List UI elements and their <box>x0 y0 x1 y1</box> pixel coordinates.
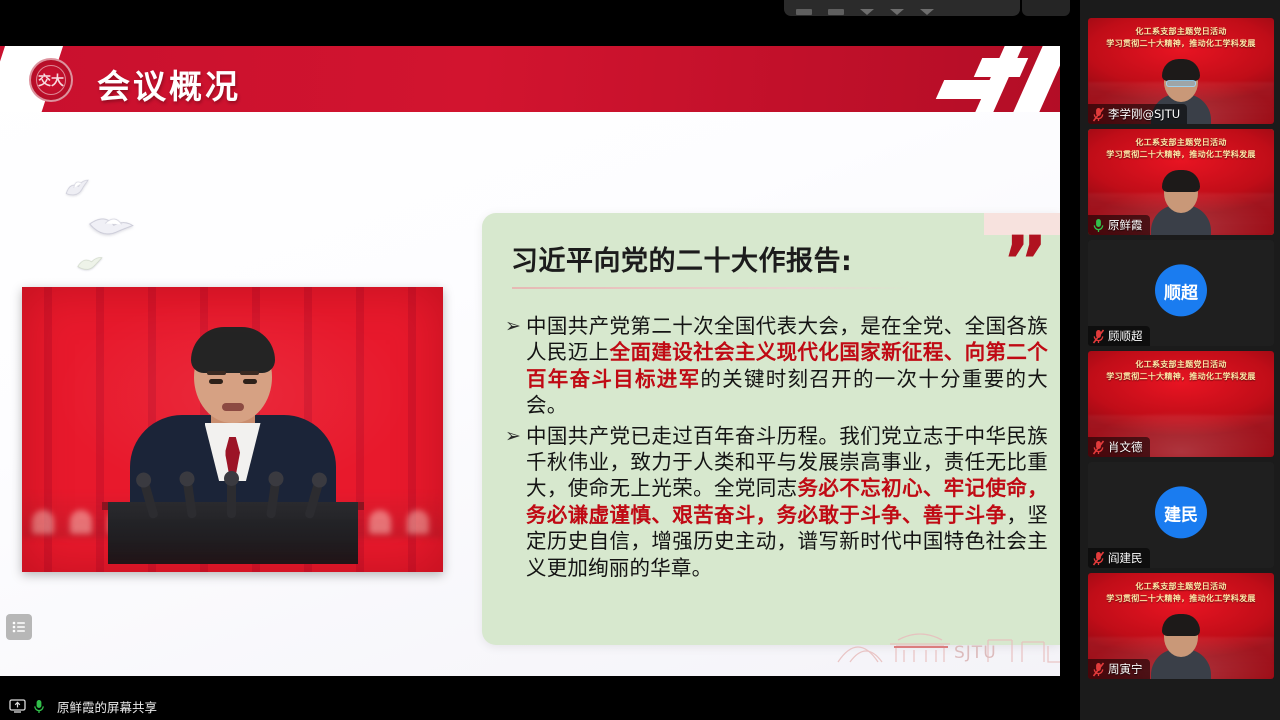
chevron-down-icon[interactable] <box>920 9 934 15</box>
bullet-text: 中国共产党已走过百年奋斗历程。我们党立志于中华民族千秋伟业，致力于人类和平与发展… <box>526 423 1048 581</box>
speaker-at-podium-photo <box>22 287 443 572</box>
participant-name: 周寅宁 <box>1108 661 1143 677</box>
bullet-marker-icon: ➢ <box>500 313 526 419</box>
participant-tile[interactable]: 建民阎建民 <box>1088 462 1274 568</box>
seal-glyph: 交大 <box>38 74 64 87</box>
virtual-background-line2: 学习贯彻二十大精神，推动化工学科发展 <box>1088 593 1274 604</box>
slide-options-icon[interactable] <box>6 614 32 640</box>
university-seal-logo: 交大 <box>29 58 73 102</box>
participant-name-plate: 李学刚@SJTU <box>1088 104 1187 124</box>
dove-icon <box>60 174 95 202</box>
bullet-item: ➢中国共产党已走过百年奋斗历程。我们党立志于中华民族千秋伟业，致力于人类和平与发… <box>500 423 1048 581</box>
dove-icon <box>74 251 105 275</box>
card-divider <box>512 287 912 289</box>
virtual-background-line1: 化工系支部主题党日活动 <box>1088 359 1274 370</box>
microphone-muted-icon <box>1092 107 1105 122</box>
participant-name: 阎建民 <box>1108 550 1143 566</box>
avatar: 建民 <box>1155 486 1207 538</box>
participant-name: 原鲜霞 <box>1108 217 1143 233</box>
share-status-label: 原鲜霞的屏幕共享 <box>57 697 157 716</box>
microphone-on-icon <box>1092 218 1105 233</box>
bullet-marker-icon: ➢ <box>500 423 526 581</box>
content-card: ” 习近平向党的二十大作报告: ➢中国共产党第二十次全国代表大会，是在全党、全国… <box>482 213 1060 645</box>
participant-name-plate: 顾顺超 <box>1088 326 1150 346</box>
virtual-background-line2: 学习贯彻二十大精神，推动化工学科发展 <box>1088 149 1274 160</box>
presentation-slide: ” 习近平向党的二十大作报告: ➢中国共产党第二十次全国代表大会，是在全党、全国… <box>0 46 1060 676</box>
virtual-background-line2: 学习贯彻二十大精神，推动化工学科发展 <box>1088 38 1274 49</box>
participant-tile[interactable]: 顺超顾顺超 <box>1088 240 1274 346</box>
participant-sidebar[interactable]: 化工系支部主题党日活动学习贯彻二十大精神，推动化工学科发展李学刚@SJTU化工系… <box>1080 0 1280 720</box>
virtual-background-line2: 学习贯彻二十大精神，推动化工学科发展 <box>1088 371 1274 382</box>
virtual-background-line1: 化工系支部主题党日活动 <box>1088 26 1274 37</box>
microphone-muted-icon <box>1092 662 1105 677</box>
microphone-muted-icon <box>1092 440 1105 455</box>
participant-video-figure <box>1149 173 1213 235</box>
banner-parallelogram-decoration <box>936 80 990 99</box>
participant-name: 肖文德 <box>1108 439 1143 455</box>
microphone-muted-icon <box>1092 551 1105 566</box>
virtual-background-line1: 化工系支部主题党日活动 <box>1088 137 1274 148</box>
participant-name-plate: 周寅宁 <box>1088 659 1150 679</box>
meeting-window: ” 习近平向党的二十大作报告: ➢中国共产党第二十次全国代表大会，是在全党、全国… <box>0 0 1280 720</box>
avatar: 顺超 <box>1155 264 1207 316</box>
svg-text:SJTU: SJTU <box>954 643 997 663</box>
participant-name-plate: 肖文德 <box>1088 437 1150 457</box>
floating-toolbar[interactable] <box>784 0 1020 16</box>
banner-slash-decoration <box>975 46 1022 112</box>
chevron-down-icon[interactable] <box>860 9 874 15</box>
quote-mark-icon: ” <box>1002 235 1046 290</box>
participant-name: 李学刚@SJTU <box>1108 106 1180 122</box>
participant-video-figure <box>1149 617 1213 679</box>
microphone-on-icon <box>33 699 50 713</box>
participant-tile[interactable]: 化工系支部主题党日活动学习贯彻二十大精神，推动化工学科发展原鲜霞 <box>1088 129 1274 235</box>
chevron-down-icon[interactable] <box>890 9 904 15</box>
participant-tile[interactable]: 化工系支部主题党日活动学习贯彻二十大精神，推动化工学科发展周寅宁 <box>1088 573 1274 679</box>
view-options-icon[interactable] <box>796 9 812 15</box>
bullet-item: ➢中国共产党第二十次全国代表大会，是在全党、全国各族人民迈上全面建设社会主义现代… <box>500 313 1048 419</box>
banner-parallelogram-decoration <box>974 58 1028 77</box>
bullet-text: 中国共产党第二十次全国代表大会，是在全党、全国各族人民迈上全面建设社会主义现代化… <box>526 313 1048 419</box>
toolbar-more-button[interactable] <box>1022 0 1070 16</box>
card-title: 习近平向党的二十大作报告: <box>511 239 852 278</box>
settings-icon[interactable] <box>828 9 844 15</box>
participant-tile[interactable]: 化工系支部主题党日活动学习贯彻二十大精神，推动化工学科发展肖文德 <box>1088 351 1274 457</box>
bullet-list: ➢中国共产党第二十次全国代表大会，是在全党、全国各族人民迈上全面建设社会主义现代… <box>500 313 1048 585</box>
screen-share-icon <box>9 699 26 713</box>
microphone-muted-icon <box>1092 329 1105 344</box>
banner-slash-decoration <box>1013 46 1060 112</box>
participant-tile[interactable]: 化工系支部主题党日活动学习贯彻二十大精神，推动化工学科发展李学刚@SJTU <box>1088 18 1274 124</box>
dove-icon <box>85 206 138 245</box>
status-bar: 原鲜霞的屏幕共享 <box>0 692 1080 720</box>
participant-name-plate: 原鲜霞 <box>1088 215 1150 235</box>
shared-screen-region: ” 习近平向党的二十大作报告: ➢中国共产党第二十次全国代表大会，是在全党、全国… <box>0 20 1060 692</box>
participant-name-plate: 阎建民 <box>1088 548 1150 568</box>
participant-name: 顾顺超 <box>1108 328 1143 344</box>
page-title: 会议概况 <box>97 60 241 108</box>
virtual-background-line1: 化工系支部主题党日活动 <box>1088 581 1274 592</box>
